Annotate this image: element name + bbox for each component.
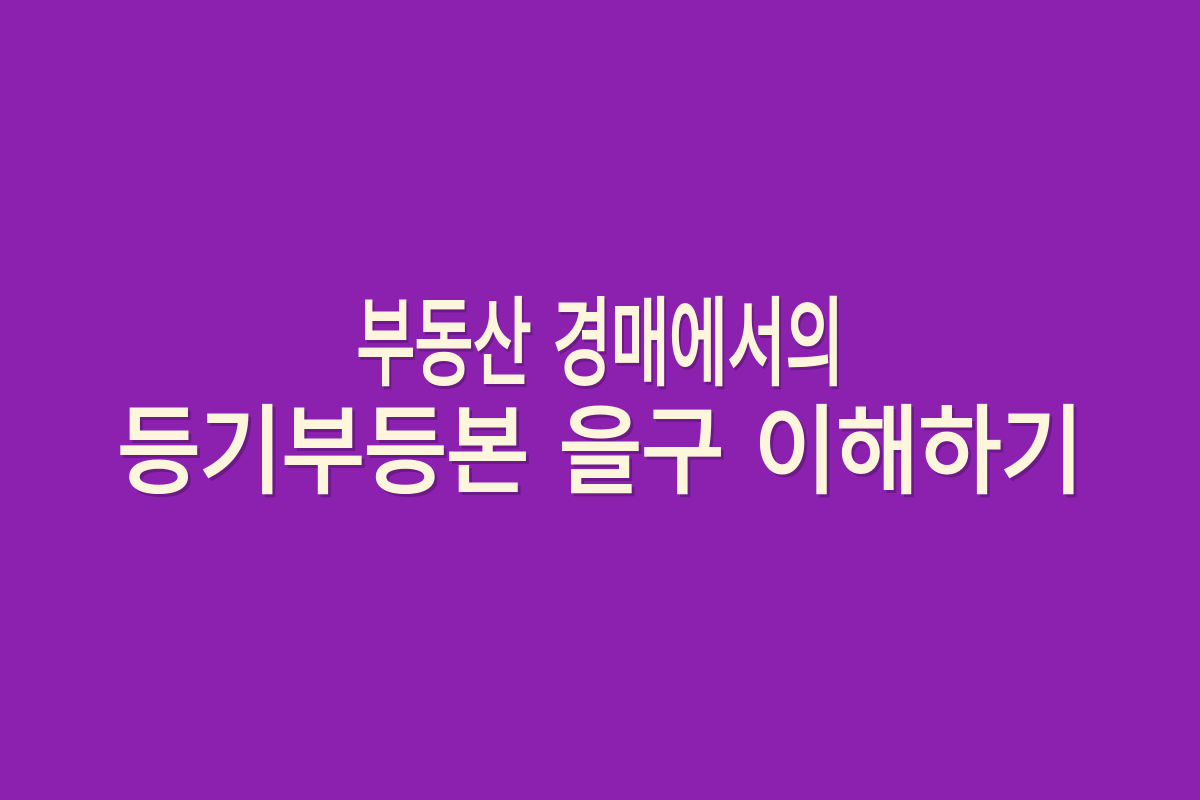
page-title: 부동산 경매에서의 등기부등본 을구 이해하기 (0, 291, 1200, 506)
title-line-1: 부동산 경매에서의 (200, 291, 1000, 399)
title-line-2: 등기부등본 을구 이해하기 (35, 399, 1165, 507)
title-banner: 부동산 경매에서의 등기부등본 을구 이해하기 (0, 0, 1200, 800)
